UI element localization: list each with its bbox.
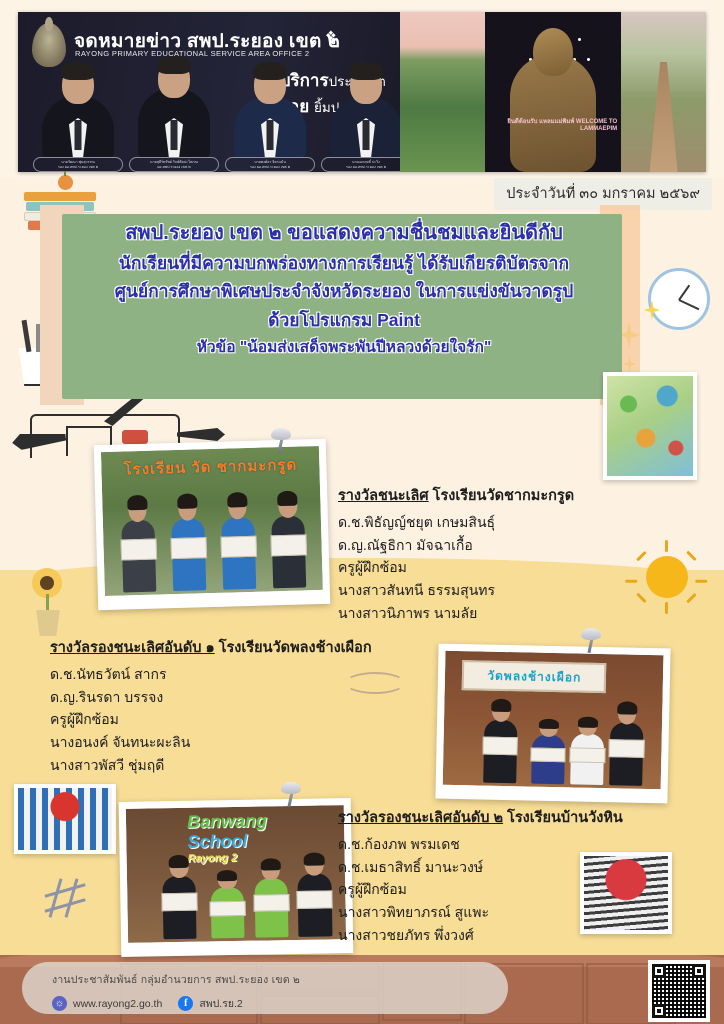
certificate xyxy=(271,534,307,556)
certificate xyxy=(162,892,198,911)
award-photo-2: วัดพลงช้างเผือก xyxy=(435,644,670,804)
certificate xyxy=(221,536,257,558)
headline-line-3: ศูนย์การศึกษาพิเศษประจำจังหวัดระยอง ในกา… xyxy=(44,277,644,305)
student-artwork-1 xyxy=(603,372,697,480)
executive-position: รอง ผอ.สพป.ระยอง เขต ๒ xyxy=(250,165,290,170)
executive-portrait: นายเอกฤทธิ์ ปะวิ่ง รอง ผอ.สพป.ระยอง เขต … xyxy=(320,60,412,172)
certificate xyxy=(297,890,333,909)
student-figure xyxy=(565,718,610,786)
award-2-coach-2: นางสาวพัสวี ชุ่มฤดี xyxy=(50,754,372,777)
student-artwork-3 xyxy=(580,852,672,934)
photo-3-content: Banwang School Rayong 2 xyxy=(126,805,346,943)
banner-photo-field xyxy=(400,12,485,172)
award-block-2: รางวัลรองชนะเลิศอันดับ ๑ โรงเรียนวัดพลงช… xyxy=(50,636,372,776)
student-figure xyxy=(266,492,312,588)
award-1-coach-2: นางสาวนิภาพร นามลัย xyxy=(338,602,574,625)
photo-1-content: โรงเรียน วัด ชากมะกรูด xyxy=(101,446,323,596)
certificate xyxy=(171,537,207,559)
clover-icon: ❖ xyxy=(325,28,339,42)
globe-icon: ☼ xyxy=(52,996,67,1011)
award-2-student-1: ด.ช.นัทธวัตน์ สากร xyxy=(50,663,372,686)
qr-matrix xyxy=(652,964,706,1018)
student-artwork-2 xyxy=(14,784,116,854)
figure-hair xyxy=(217,870,237,881)
award-2-coach-1: นางอนงค์ จันทนะผะลิน xyxy=(50,731,372,754)
figure-hair xyxy=(227,492,247,508)
certificate xyxy=(210,901,246,916)
figure-hair xyxy=(261,858,281,871)
executive-name-plate: นายสุธีร์ทรัพย์ รักษ์ศิลปะโสภณ ผอ.สพป.ระ… xyxy=(129,157,219,172)
figure-hair xyxy=(491,698,511,712)
qr-code-icon[interactable] xyxy=(648,960,710,1022)
photo-watermark: ยินดีต้อนรับ แหลมแม่พิมพ์ WELCOME TO LAM… xyxy=(485,116,618,132)
award-1-student-1: ด.ช.พิธัญญ์ชยุต เกษมสินธุ์ xyxy=(338,511,574,534)
figure-hair xyxy=(177,494,197,510)
banner-left-panel: จดหมายข่าว สพป.ระยอง เขต ๒ RAYONG PRIMAR… xyxy=(18,12,400,172)
award-2-student-2: ด.ญ.รินรดา บรรจง xyxy=(50,686,372,709)
certificate xyxy=(609,739,645,758)
figure-hair xyxy=(277,491,297,507)
portrait-hair xyxy=(157,56,191,74)
figure-hair xyxy=(538,718,558,729)
flower-pot xyxy=(34,610,62,636)
award-1-school: โรงเรียนวัดชากมะกรูด xyxy=(433,488,574,504)
artwork-image xyxy=(584,856,668,930)
award-1-coach-label: ครูผู้ฝึกซ้อม xyxy=(338,556,574,579)
photo-2-content: วัดพลงช้างเผือก xyxy=(443,651,664,790)
headline-line-5: หัวข้อ "น้อมส่งเสด็จพระพันปีหลวงด้วยใจรั… xyxy=(44,334,644,362)
portrait-tie xyxy=(171,120,178,150)
teacher-figure xyxy=(604,702,649,786)
award-1-rank: รางวัลชนะเลิศ xyxy=(338,488,429,504)
student-figure xyxy=(249,860,294,938)
figure-hair xyxy=(578,717,598,728)
executive-portrait: นายสุธีร์ทรัพย์ รักษ์ศิลปะโสภณ ผอ.สพป.ระ… xyxy=(128,60,220,172)
artwork-image xyxy=(18,788,112,850)
facebook-icon: f xyxy=(178,996,193,1011)
portrait-hair xyxy=(349,62,383,80)
award-photo-1: โรงเรียน วัด ชากมะกรูด xyxy=(94,439,331,610)
executive-position: รอง ผอ.สพป.ระยอง เขต ๒ xyxy=(346,165,386,170)
newsletter-page: จดหมายข่าว สพป.ระยอง เขต ๒ RAYONG PRIMAR… xyxy=(0,0,724,1024)
footer-org-line: งานประชาสัมพันธ์ กลุ่มอำนวยการ สพป.ระยอง… xyxy=(52,971,508,988)
portrait-hair xyxy=(253,62,287,80)
executive-portrait: นายวัฒนา พุ่มสุวรรณ รอง ผอ.สพป.ระยอง เขต… xyxy=(32,60,124,172)
portrait-tie xyxy=(267,120,274,150)
figure-hair xyxy=(127,495,147,511)
portrait-tie xyxy=(75,120,82,150)
teacher-figure xyxy=(292,854,337,938)
push-pin-icon xyxy=(278,782,304,808)
photo-3-sign-line-1: Banwang xyxy=(187,811,340,833)
flower-core xyxy=(40,576,54,590)
certificate xyxy=(530,748,566,763)
portrait-tie xyxy=(363,120,370,150)
statue-head xyxy=(533,28,573,76)
push-pin-icon xyxy=(268,428,294,454)
figure-hair xyxy=(617,701,637,715)
headline-line-2: นักเรียนที่มีความบกพร่องทางการเรียนรู้ ไ… xyxy=(44,249,644,277)
footer-website[interactable]: www.rayong2.go.th xyxy=(73,998,162,1010)
award-3-school: โรงเรียนบ้านวังหิน xyxy=(507,810,623,826)
award-2-school: โรงเรียนวัดพลงช้างเผือก xyxy=(219,640,372,656)
figure-hair xyxy=(304,852,324,866)
footer-contact-pill: งานประชาสัมพันธ์ กลุ่มอำนวยการ สพป.ระยอง… xyxy=(22,962,508,1014)
certificate xyxy=(569,747,605,762)
sun-icon xyxy=(646,556,688,598)
award-3-rank: รางวัลรองชนะเลิศอันดับ ๒ xyxy=(338,810,503,826)
executive-name-plate: นายวัฒนา พุ่มสุวรรณ รอง ผอ.สพป.ระยอง เขต… xyxy=(33,157,123,172)
sunflower-icon xyxy=(24,568,76,640)
award-1-student-2: ด.ญ.ณัฐธิกา มัจฉาเกื้อ xyxy=(338,534,574,557)
banner-photo-statue: ยินดีต้อนรับ แหลมแม่พิมพ์ WELCOME TO LAM… xyxy=(485,12,622,172)
certificate xyxy=(253,894,289,912)
portrait-hair xyxy=(61,62,95,80)
student-figure xyxy=(526,719,571,784)
executive-photo-row: นายวัฒนา พุ่มสุวรรณ รอง ผอ.สพป.ระยอง เขต… xyxy=(32,54,418,172)
certificate xyxy=(120,538,156,560)
certificate xyxy=(482,736,518,755)
award-3-header: รางวัลรองชนะเลิศอันดับ ๒ โรงเรียนบ้านวัง… xyxy=(338,806,623,829)
artwork-image xyxy=(607,376,693,476)
executive-position: รอง ผอ.สพป.ระยอง เขต ๒ xyxy=(58,165,98,170)
executive-name-plate: นายเอกฤทธิ์ ปะวิ่ง รอง ผอ.สพป.ระยอง เขต … xyxy=(321,157,411,172)
award-2-coach-label: ครูผู้ฝึกซ้อม xyxy=(50,708,372,731)
executive-name-plate: นายพงศ์ธร จิตรแม้น รอง ผอ.สพป.ระยอง เขต … xyxy=(225,157,315,172)
photo-3-sign-line-2: School xyxy=(187,830,340,852)
student-figure xyxy=(216,494,262,590)
student-figure xyxy=(205,871,250,939)
award-1-coach-1: นางสาวสันทนี ธรรมสุนทร xyxy=(338,579,574,602)
teacher-figure xyxy=(478,700,523,784)
photo-2-school-sign: วัดพลงช้างเผือก xyxy=(462,660,606,692)
executive-portrait: นายพงศ์ธร จิตรแม้น รอง ผอ.สพป.ระยอง เขต … xyxy=(224,60,316,172)
award-1-header: รางวัลชนะเลิศ โรงเรียนวัดชากมะกรูด xyxy=(338,484,574,507)
award-block-1: รางวัลชนะเลิศ โรงเรียนวัดชากมะกรูด ด.ช.พ… xyxy=(338,484,574,624)
headline-line-1: สพป.ระยอง เขต ๒ ขอแสดงความชื่นชมและยินดี… xyxy=(44,218,644,249)
figure-hair xyxy=(169,854,189,868)
award-2-rank: รางวัลรองชนะเลิศอันดับ ๑ xyxy=(50,640,215,656)
footer-links-row: ☼ www.rayong2.go.th f สพป.รย.2 xyxy=(52,995,508,1012)
headline-line-4: ด้วยโปรแกรม Paint xyxy=(44,306,644,334)
banner-photo-boardwalk xyxy=(621,12,706,172)
footer-facebook[interactable]: สพป.รย.2 xyxy=(199,995,242,1012)
push-pin-icon xyxy=(578,628,604,654)
student-figure xyxy=(115,497,161,593)
header-banner: จดหมายข่าว สพป.ระยอง เขต ๒ RAYONG PRIMAR… xyxy=(18,12,706,172)
award-2-header: รางวัลรองชนะเลิศอันดับ ๑ โรงเรียนวัดพลงช… xyxy=(50,636,372,659)
headline-text-block: สพป.ระยอง เขต ๒ ขอแสดงความชื่นชมและยินดี… xyxy=(44,218,644,362)
squiggle-doodle xyxy=(345,672,405,694)
student-figure xyxy=(165,495,211,591)
boardwalk-path xyxy=(650,62,678,172)
teacher-figure xyxy=(157,856,202,940)
executive-position: ผอ.สพป.ระยอง เขต ๒ xyxy=(157,165,190,170)
award-photo-3: Banwang School Rayong 2 xyxy=(119,798,354,957)
